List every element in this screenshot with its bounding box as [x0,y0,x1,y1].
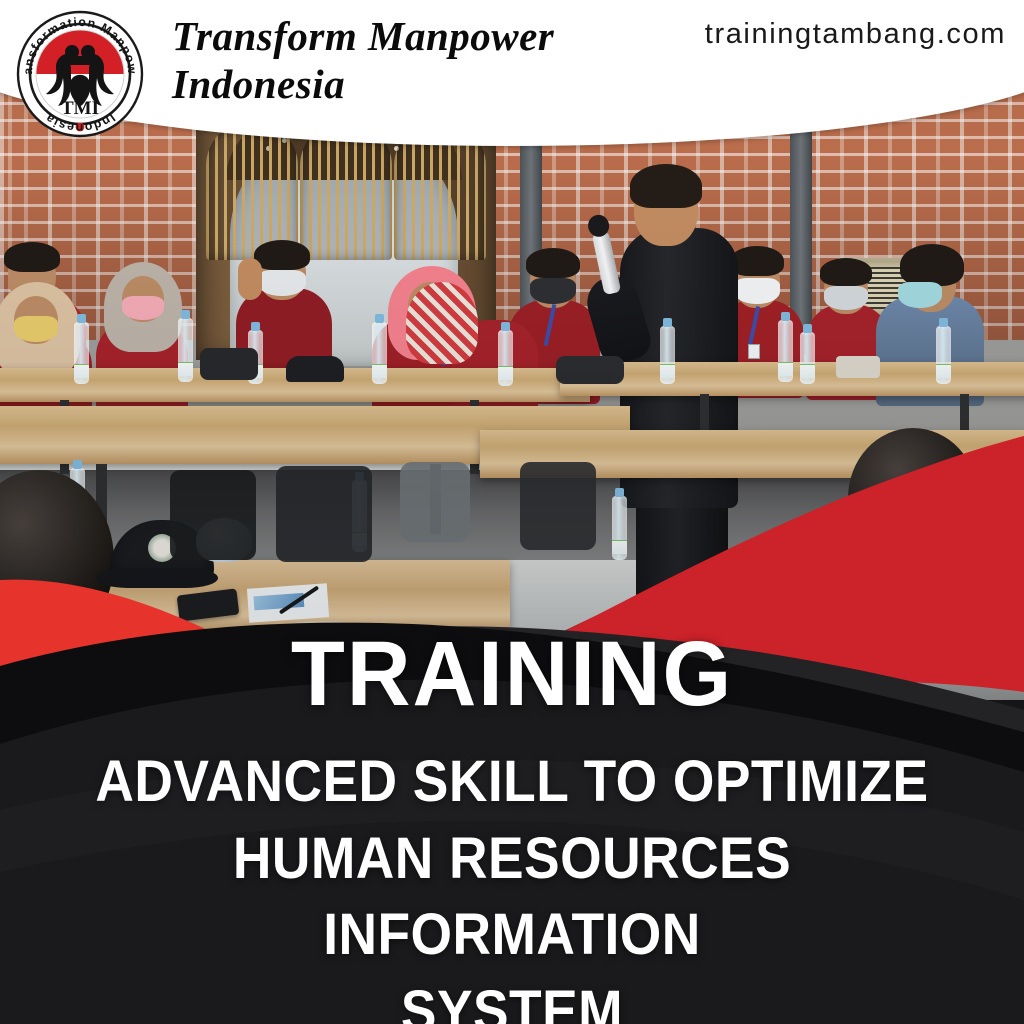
subtitle-line-3: SYSTEM [41,974,983,1024]
logo-monogram: TMI [61,98,99,119]
caption-block: TRAINING ADVANCED SKILL TO OPTIMIZE HUMA… [0,628,1024,1024]
subtitle-line-1: ADVANCED SKILL TO OPTIMIZE [41,744,983,821]
brand-name: Transform Manpower Indonesia [172,12,642,109]
tmi-logo: TMI Transformation Manpower Indonesia [14,8,146,140]
poster-subtitle: ADVANCED SKILL TO OPTIMIZE HUMAN RESOURC… [41,744,983,1024]
brand-line-1: Transform Manpower [172,12,642,60]
training-poster: TRAINING ADVANCED SKILL TO OPTIMIZE HUMA… [0,0,1024,1024]
poster-title: TRAINING [20,628,1003,720]
website-url[interactable]: trainingtambang.com [705,18,1006,51]
subtitle-line-2: HUMAN RESOURCES INFORMATION [41,821,983,974]
brand-line-2: Indonesia [172,60,642,108]
